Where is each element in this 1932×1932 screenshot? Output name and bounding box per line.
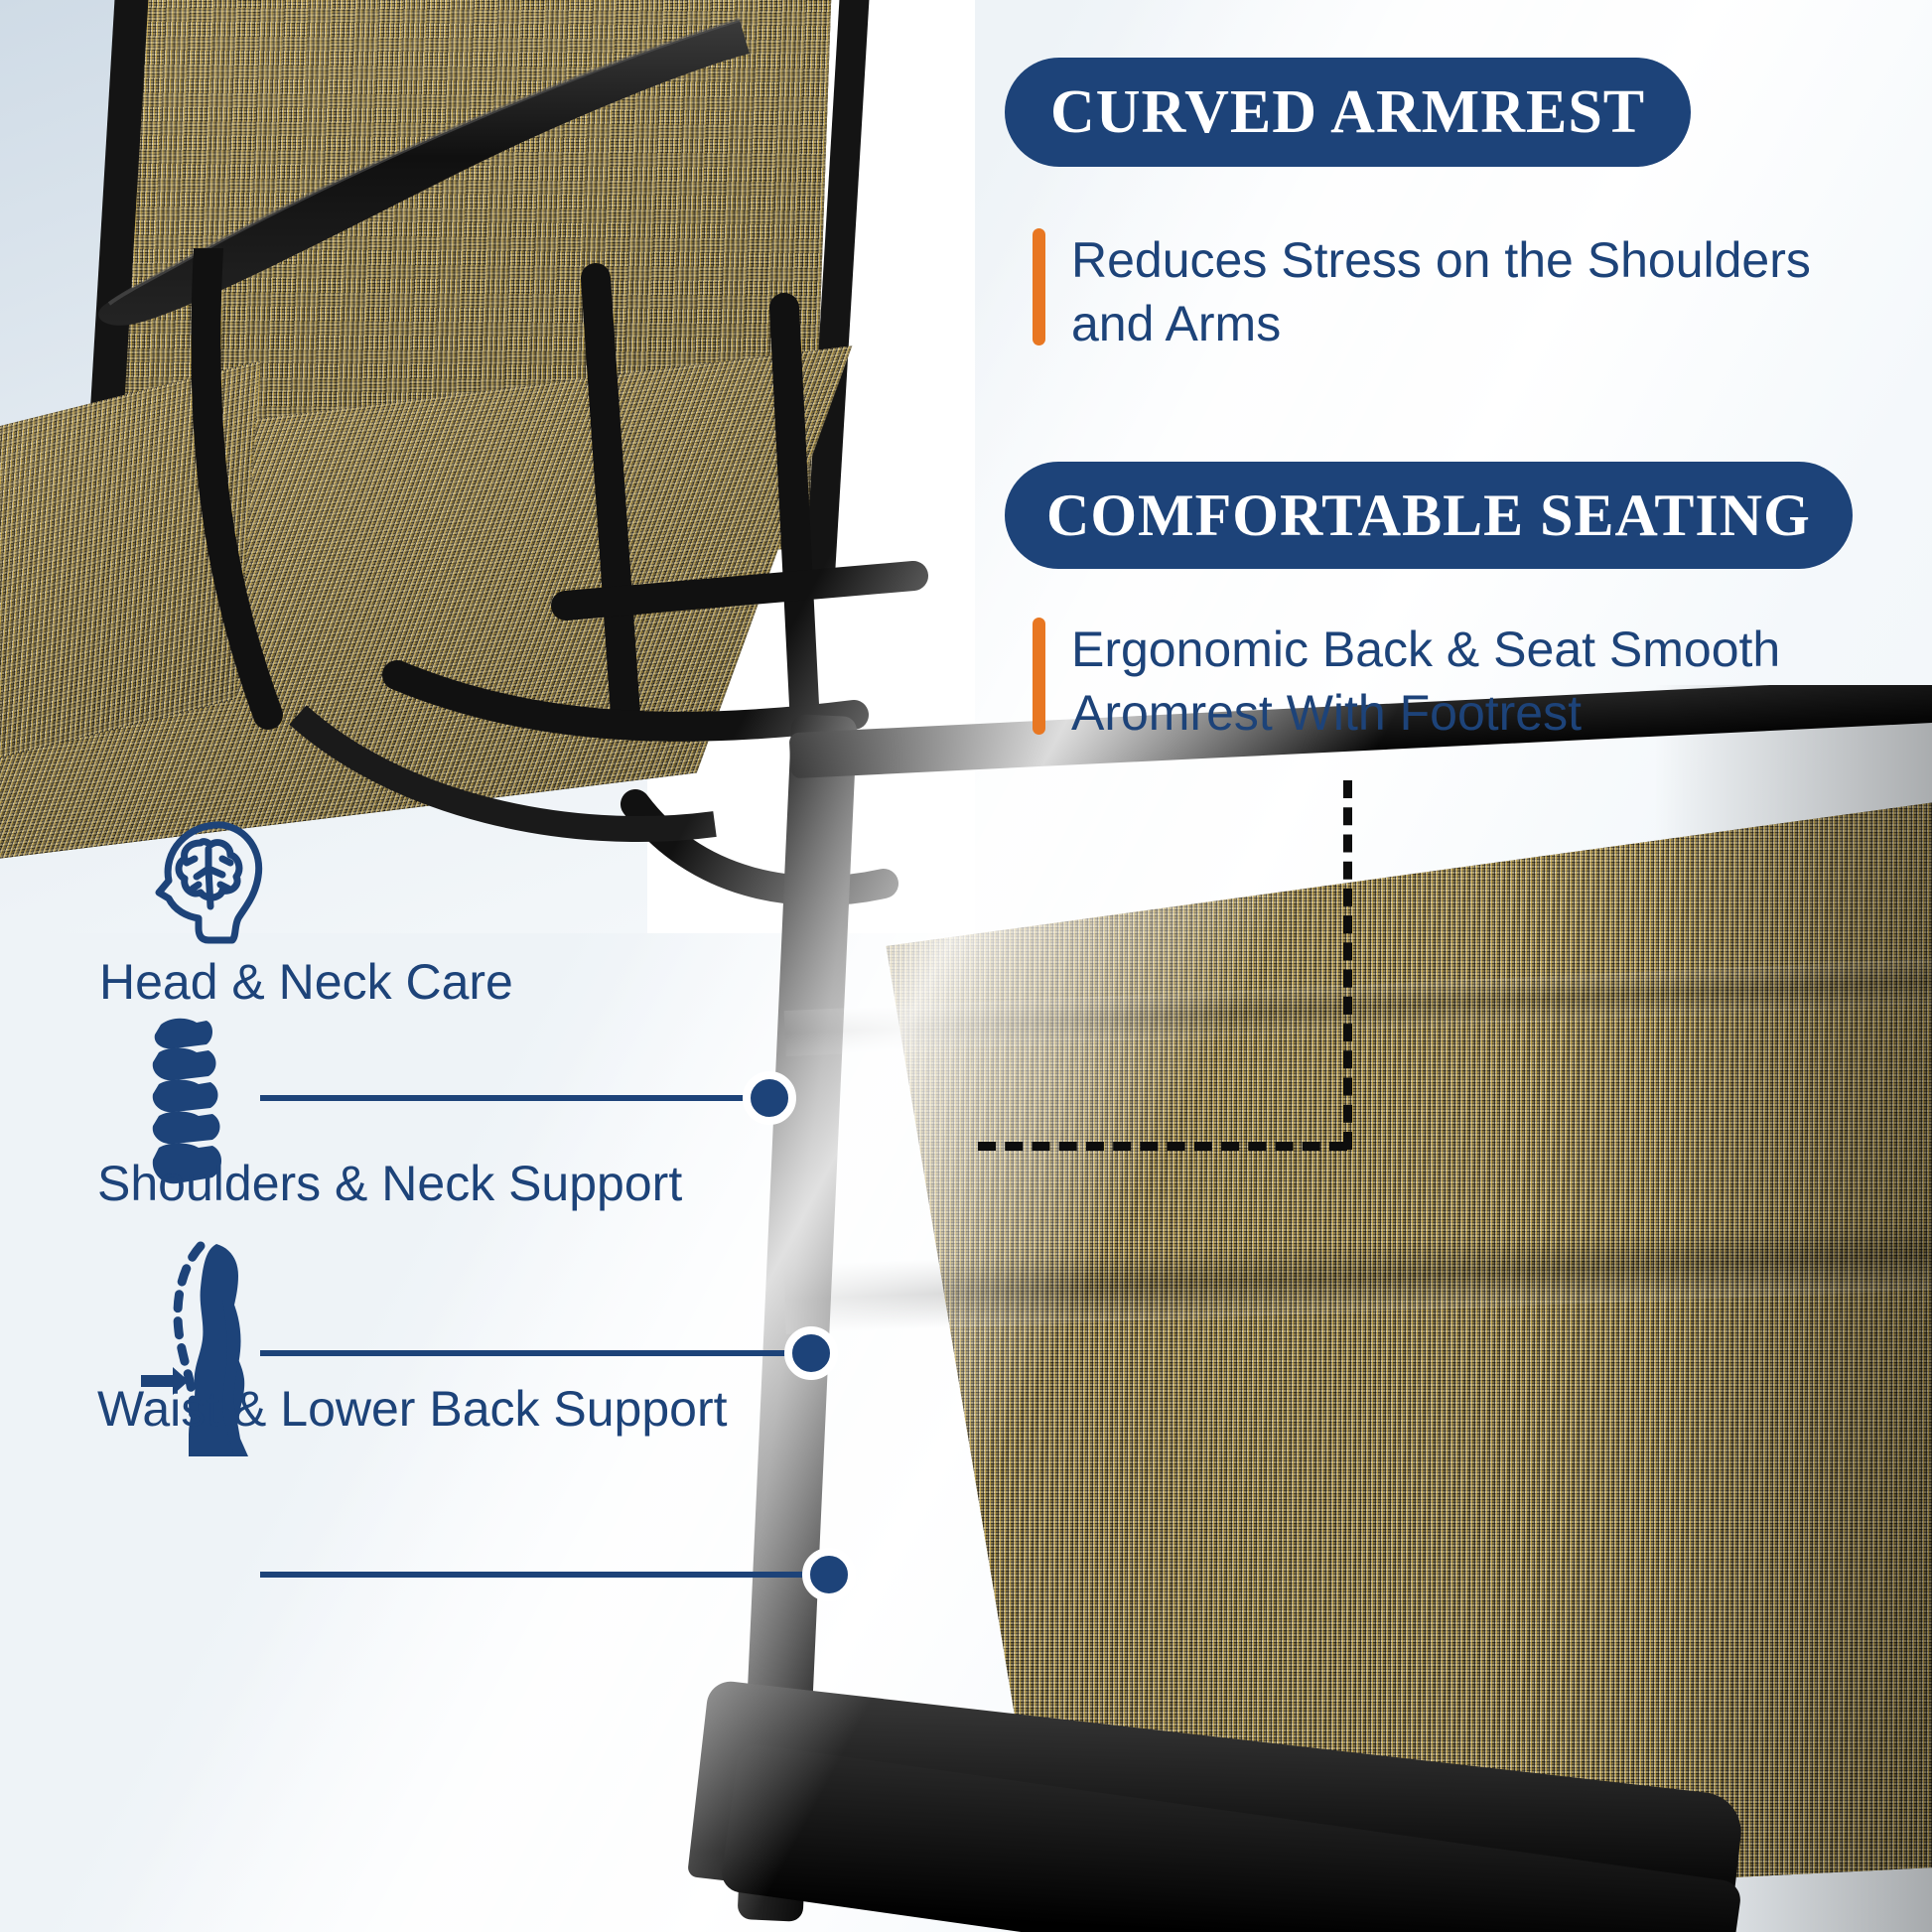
copy-comfortable-seating: Ergonomic Back & Seat Smooth Aromrest Wi…: [1033, 618, 1886, 745]
feature-label: Head & Neck Care: [99, 953, 513, 1011]
callout-dashed-horizontal: [978, 1142, 1347, 1151]
feature-connector-dot: [802, 1548, 856, 1601]
heading-curved-armrest: CURVED ARMREST: [1005, 58, 1691, 167]
callout-dashed-vertical: [1343, 780, 1352, 1150]
orange-bullet-bar: [1033, 618, 1045, 735]
product-photo-chair-back: [616, 685, 1932, 1932]
feature-label: Waist & Lower Back Support: [97, 1380, 728, 1438]
heading-comfortable-seating: COMFORTABLE SEATING: [1005, 462, 1853, 569]
feature-connector-line: [260, 1095, 766, 1101]
copy-curved-armrest: Reduces Stress on the Shoulders and Arms: [1033, 228, 1886, 355]
copy-text: Ergonomic Back & Seat Smooth Aromrest Wi…: [1071, 618, 1886, 745]
feature-connector-line: [260, 1572, 826, 1578]
feature-label: Shoulders & Neck Support: [97, 1155, 682, 1212]
infographic-canvas: CURVED ARMREST Reduces Stress on the Sho…: [0, 0, 1932, 1932]
feature-connector-dot: [743, 1071, 796, 1125]
copy-text: Reduces Stress on the Shoulders and Arms: [1071, 228, 1886, 355]
head-brain-icon: [149, 819, 268, 953]
feature-connector-dot: [784, 1326, 838, 1380]
orange-bullet-bar: [1033, 228, 1045, 345]
feature-connector-line: [260, 1350, 808, 1356]
